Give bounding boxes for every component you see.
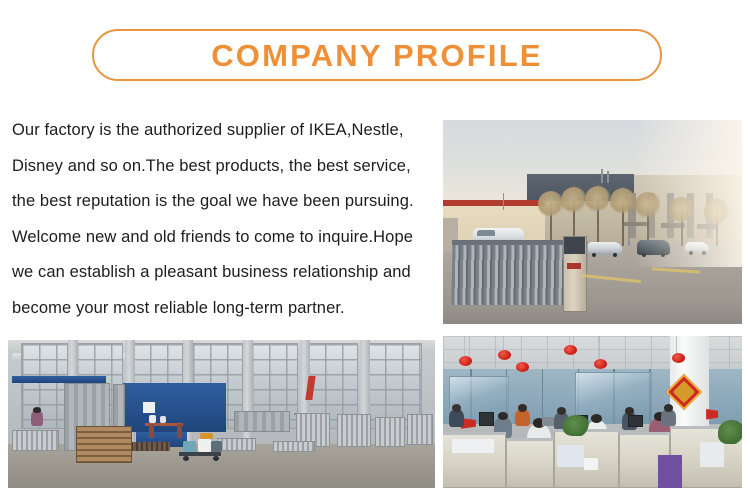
worker-head (557, 407, 566, 415)
roof-pole (601, 169, 603, 183)
red-lantern (672, 353, 685, 363)
intro-line: Welcome new and old friends to come to i… (12, 220, 437, 256)
red-lantern (594, 359, 607, 369)
drum (198, 439, 211, 452)
desk-documents (584, 458, 599, 470)
tree-crown (610, 188, 636, 214)
bottle-row (128, 442, 171, 451)
desk-documents (452, 439, 494, 453)
intro-line: Our factory is the authorized supplier o… (12, 113, 437, 149)
cubicle-top-rail (619, 432, 670, 435)
office-illustration (443, 336, 742, 488)
stacked-goods-pallet (217, 438, 255, 451)
stacked-goods-pallet (375, 417, 405, 447)
rear-rack (234, 411, 290, 432)
bottle (160, 416, 167, 423)
van-window (477, 230, 495, 236)
atmospheric-haze (634, 120, 742, 267)
stacked-goods-pallet (273, 441, 316, 453)
roof-pole (607, 171, 609, 183)
red-lantern (498, 350, 511, 360)
blue-overhead-beam (12, 376, 106, 383)
gate-post-display (564, 237, 585, 253)
workbench-leg (177, 424, 182, 437)
computer-monitor (479, 412, 494, 426)
desk-documents (700, 442, 724, 466)
bottle (149, 415, 156, 422)
wooden-pallet-stack (76, 426, 132, 463)
purple-chair (658, 455, 682, 488)
intro-line: the best reputation is the goal we have … (12, 184, 437, 220)
office-plant (718, 420, 742, 444)
warehouse-window (21, 343, 68, 429)
cubicle-top-rail (506, 438, 554, 441)
page-title: COMPANY PROFILE (211, 40, 543, 71)
cubicle-top-rail (443, 432, 506, 435)
lantern-string (521, 336, 522, 363)
desk-documents (557, 445, 584, 466)
worker-head (498, 412, 508, 420)
antenna-pole (503, 193, 505, 209)
car-wheel (613, 253, 617, 257)
office-plant (563, 415, 590, 436)
computer-monitor (628, 415, 643, 427)
stacked-goods-pallet (407, 414, 433, 445)
company-profile-title-banner: COMPANY PROFILE (92, 29, 662, 81)
worker-head (452, 404, 461, 412)
notice-sheet (143, 402, 156, 412)
company-profile-page: COMPANY PROFILE Our factory is the autho… (0, 0, 750, 501)
fu-inner-emblem (673, 380, 696, 403)
drum (211, 441, 222, 453)
car-wheel (592, 253, 596, 257)
photo-office-interior (443, 336, 742, 488)
stacked-goods-pallet (337, 414, 371, 447)
parked-sedan (587, 242, 623, 254)
lantern-string (598, 336, 599, 360)
stacked-goods-pallet (12, 430, 59, 451)
red-lantern (516, 362, 529, 372)
photo-factory-exterior (443, 120, 742, 324)
gate-post-red-label (567, 263, 580, 269)
intro-line: Disney and so on.The best products, the … (12, 149, 437, 185)
cubicle-partition (506, 439, 554, 488)
intro-line: become your most reliable long-term part… (12, 291, 437, 327)
lantern-string (464, 336, 465, 357)
worker-head (518, 404, 527, 412)
company-intro-paragraph: Our factory is the authorized supplier o… (12, 113, 437, 326)
warehouse-illustration (8, 340, 435, 488)
lantern-string (503, 336, 504, 351)
photo-warehouse-interior (8, 340, 435, 488)
lantern-string (676, 336, 677, 354)
worker-head (591, 414, 602, 423)
worker-head (33, 407, 42, 413)
intro-line: we can establish a pleasant business rel… (12, 255, 437, 291)
sack (200, 433, 213, 439)
workbench-leg (149, 424, 154, 437)
computer-monitor (542, 417, 554, 426)
factory-exterior-illustration (443, 120, 742, 324)
left-building-red-roof-band (443, 200, 545, 206)
drum (183, 441, 196, 453)
